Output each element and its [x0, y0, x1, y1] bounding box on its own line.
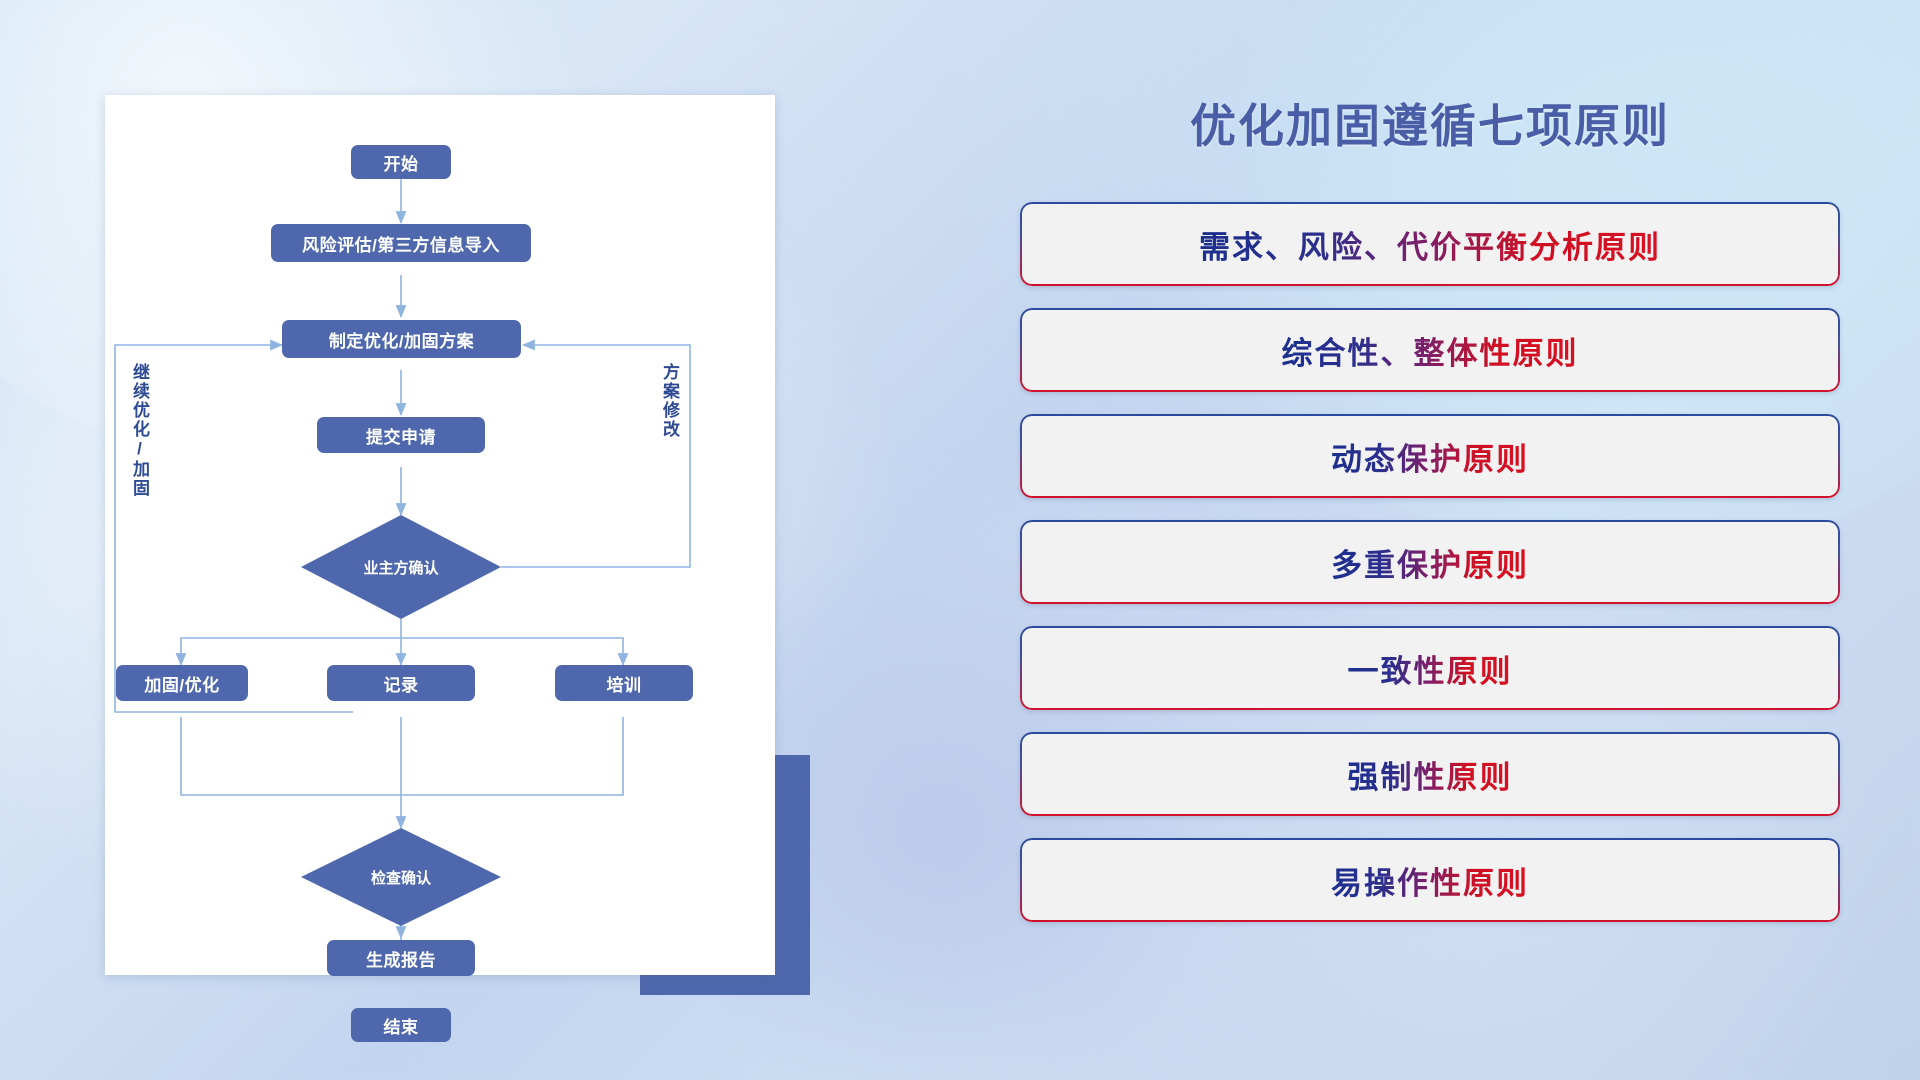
principle-card[interactable]: 多重保护原则 — [1020, 520, 1840, 604]
principles-pane: 优化加固遵循七项原则 需求、风险、代价平衡分析原则 综合性、整体性原则 动态保护… — [1020, 90, 1840, 1040]
flow-node-generate-report[interactable]: 生成报告 — [327, 940, 475, 976]
principle-card[interactable]: 动态保护原则 — [1020, 414, 1840, 498]
flowchart-panel: 开始 风险评估/第三方信息导入 制定优化/加固方案 提交申请 业主方确认 加固/… — [105, 95, 775, 975]
principle-card[interactable]: 强制性原则 — [1020, 732, 1840, 816]
principle-label: 易操作性原则 — [1331, 858, 1529, 903]
principle-label: 需求、风险、代价平衡分析原则 — [1199, 222, 1661, 267]
principle-card[interactable]: 需求、风险、代价平衡分析原则 — [1020, 202, 1840, 286]
flow-node-start[interactable]: 开始 — [351, 145, 451, 179]
principle-label: 多重保护原则 — [1331, 540, 1529, 585]
principles-list: 需求、风险、代价平衡分析原则 综合性、整体性原则 动态保护原则 多重保护原则 一… — [1020, 202, 1840, 922]
flow-node-plan[interactable]: 制定优化/加固方案 — [282, 320, 521, 358]
principle-card[interactable]: 一致性原则 — [1020, 626, 1840, 710]
flow-node-end[interactable]: 结束 — [351, 1008, 451, 1042]
principle-label: 强制性原则 — [1348, 752, 1513, 797]
flow-edge-label-continue-optimize: 继续优化/加固 — [131, 363, 148, 533]
flow-node-record[interactable]: 记录 — [327, 665, 475, 701]
principle-card[interactable]: 综合性、整体性原则 — [1020, 308, 1840, 392]
flow-node-submit-application[interactable]: 提交申请 — [317, 417, 485, 453]
principle-card[interactable]: 易操作性原则 — [1020, 838, 1840, 922]
principle-label: 综合性、整体性原则 — [1282, 328, 1579, 373]
flow-edge-label-revise-plan: 方案修改 — [661, 363, 678, 473]
flow-node-reinforce[interactable]: 加固/优化 — [116, 665, 248, 701]
flowchart-canvas: 开始 风险评估/第三方信息导入 制定优化/加固方案 提交申请 业主方确认 加固/… — [105, 95, 775, 975]
principle-label: 动态保护原则 — [1331, 434, 1529, 479]
principles-title: 优化加固遵循七项原则 — [1020, 90, 1840, 156]
flow-node-risk-assessment[interactable]: 风险评估/第三方信息导入 — [271, 224, 531, 262]
flow-node-training[interactable]: 培训 — [555, 665, 693, 701]
principle-label: 一致性原则 — [1348, 646, 1513, 691]
